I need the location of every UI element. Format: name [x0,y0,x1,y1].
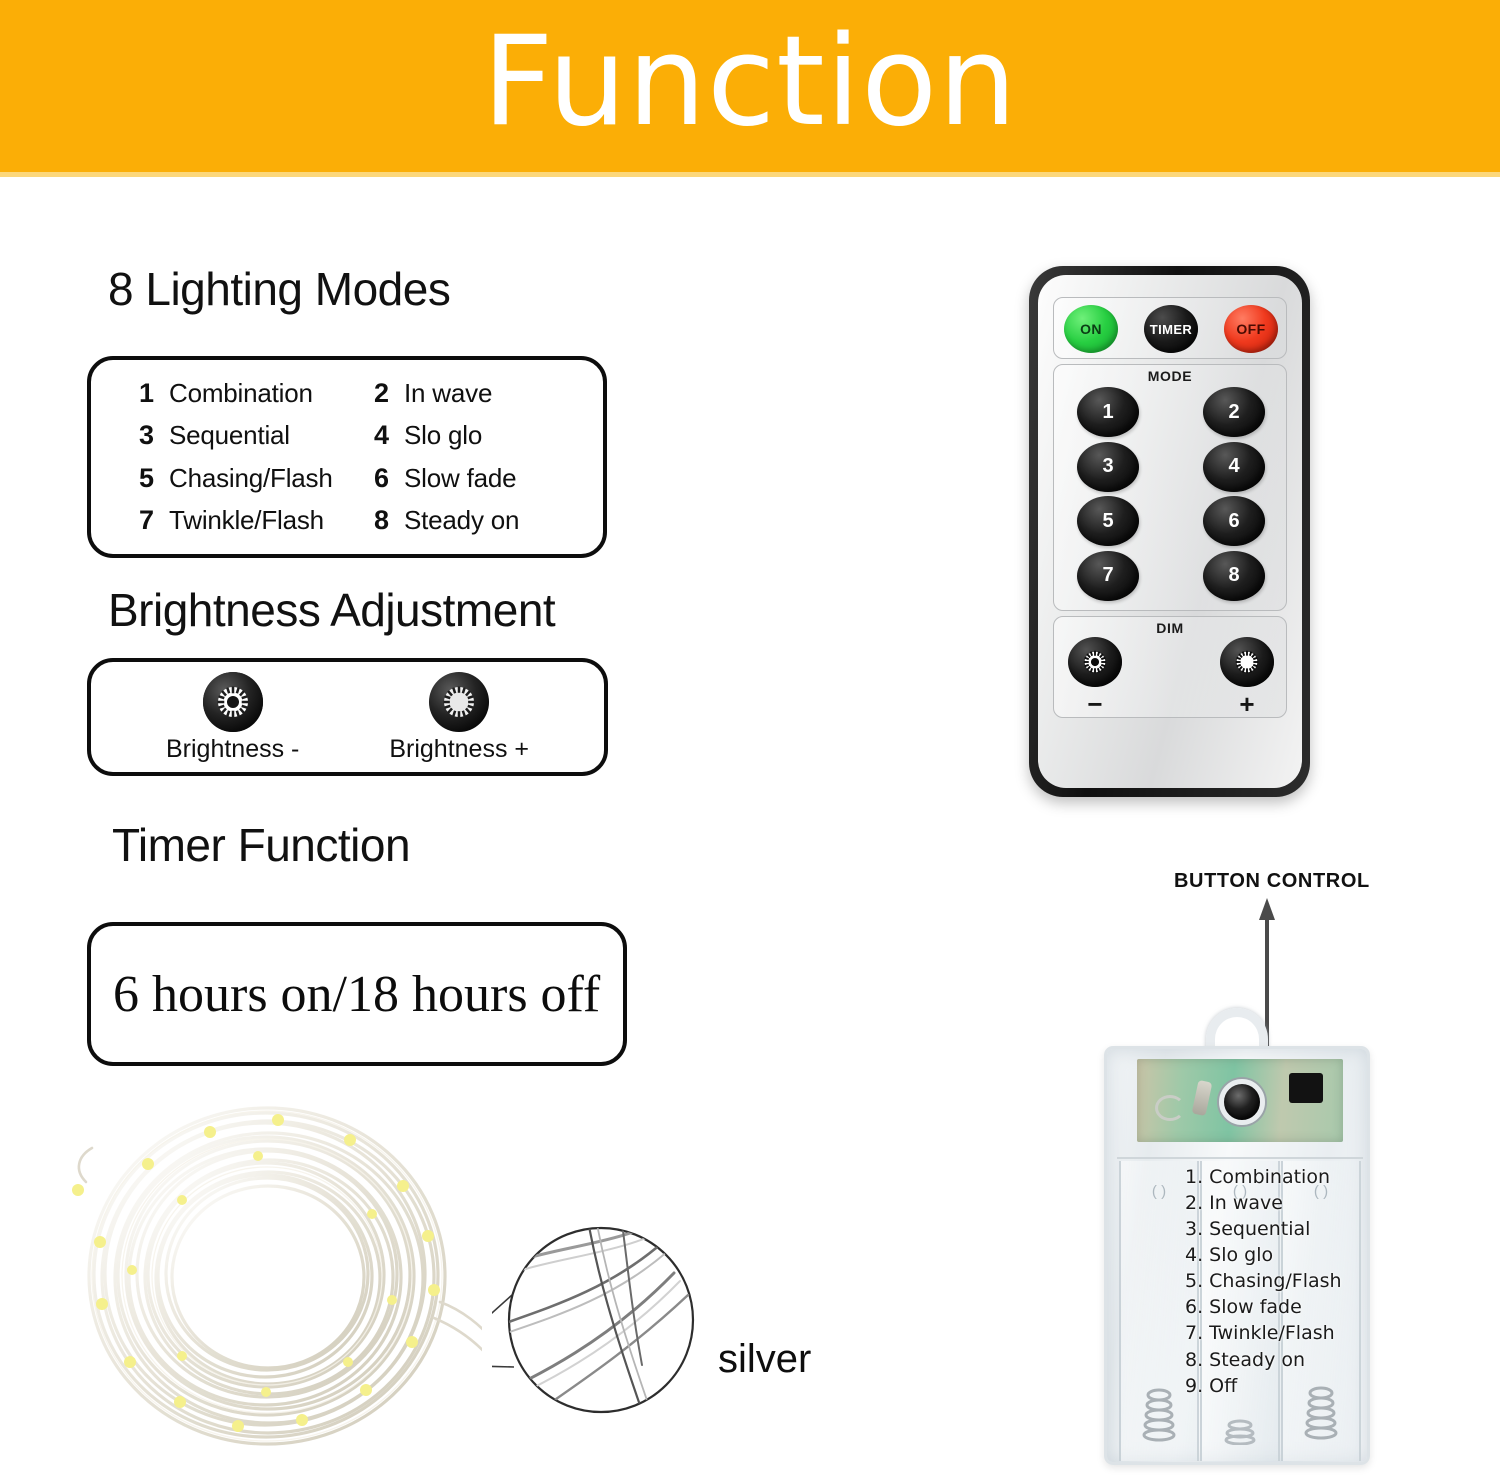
brightness-box: Brightness - [87,658,608,776]
remote-on-button[interactable]: ON [1064,305,1118,353]
remote-dim-group: DIM [1053,616,1287,718]
bb-mode-item: 1. Combination [1185,1165,1370,1190]
coil-component-icon [1155,1095,1185,1121]
mode-number: 8 [374,505,404,536]
control-button[interactable] [1219,1079,1265,1125]
mode-number: 1 [139,378,169,409]
mode-number: 7 [139,505,169,536]
timer-heading: Timer Function [112,818,410,872]
remote-mode-button-5[interactable]: 5 [1077,496,1139,546]
remote-mode-button-4[interactable]: 4 [1203,442,1265,492]
brightness-minus-cell: Brightness - [166,671,299,764]
battery-spring-icon [1142,1385,1176,1445]
mode-item: 4 Slo glo [374,420,603,451]
mode-item: 3 Sequential [139,420,374,451]
mode-label: Steady on [404,505,519,536]
remote-control: ON TIMER OFF MODE 1 2 3 4 5 6 7 8 [1029,266,1310,797]
bb-mode-item: 9. Off [1185,1374,1370,1399]
bb-mode-item: 7. Twinkle/Flash [1185,1321,1370,1346]
page-title: Function [482,20,1017,144]
mode-item: 1 Combination [139,378,374,409]
remote-dim-row: − [1064,637,1278,713]
board-divider [1117,1157,1363,1159]
mode-number: 4 [374,420,404,451]
bb-mode-item: 8. Steady on [1185,1348,1370,1373]
bb-mode-item: 5. Chasing/Flash [1185,1269,1370,1294]
battery-box-shell: ( ) ( ) [1104,1046,1370,1465]
lighting-modes-heading: 8 Lighting Modes [108,262,450,316]
mode-item: 5 Chasing/Flash [139,463,374,494]
remote-power-row: ON TIMER OFF [1060,304,1282,354]
bb-mode-item: 3. Sequential [1185,1217,1370,1242]
mode-label: Combination [169,378,313,409]
brightness-plus-cell: Brightness + [389,671,529,764]
brightness-minus-label: Brightness - [166,735,299,764]
remote-dim-minus-sign: − [1087,691,1102,717]
mode-item: 7 Twinkle/Flash [139,505,374,536]
mode-label: Sequential [169,420,290,451]
remote-dim-up-button[interactable] [1220,637,1274,687]
circuit-board [1137,1059,1343,1142]
battery-control-box: ( ) ( ) [1104,1010,1370,1465]
remote-face: ON TIMER OFF MODE 1 2 3 4 5 6 7 8 [1038,275,1302,788]
bb-mode-item: 6. Slow fade [1185,1295,1370,1320]
mode-number: 2 [374,378,404,409]
remote-dim-up-cell: + [1220,637,1274,717]
remote-mode-button-8[interactable]: 8 [1203,551,1265,601]
remote-timer-button[interactable]: TIMER [1144,305,1198,353]
remote-dim-down-cell: − [1068,637,1122,717]
bb-mode-item: 2. In wave [1185,1191,1370,1216]
mode-number: 6 [374,463,404,494]
brightness-row: Brightness - [91,662,604,772]
battery-box-mode-list: 1. Combination 2. In wave 3. Sequential … [1185,1165,1370,1399]
remote-mode-label: MODE [1054,368,1286,384]
bb-mode-item: 4. Slo glo [1185,1243,1370,1268]
remote-mode-button-2[interactable]: 2 [1203,387,1265,437]
mode-number: 5 [139,463,169,494]
remote-dim-label: DIM [1054,620,1286,636]
remote-mode-button-7[interactable]: 7 [1077,551,1139,601]
remote-mode-button-6[interactable]: 6 [1203,496,1265,546]
capacitor-component-icon [1192,1080,1213,1116]
infographic-page: Function 8 Lighting Modes 1 Combination … [0,0,1500,1480]
header-underline [0,172,1500,177]
brightness-plus-label: Brightness + [389,735,529,764]
lighting-modes-grid: 1 Combination 2 In wave 3 Sequential 4 S… [91,360,603,554]
button-control-callout-label: BUTTON CONTROL [1174,870,1370,893]
mode-label: Slow fade [404,463,516,494]
mode-label: Chasing/Flash [169,463,333,494]
remote-off-button[interactable]: OFF [1224,305,1278,353]
slot-polarity-mark: ( ) [1152,1183,1166,1200]
lighting-modes-box: 1 Combination 2 In wave 3 Sequential 4 S… [87,356,607,558]
black-component-icon [1289,1073,1323,1103]
mode-item: 8 Steady on [374,505,603,536]
mode-number: 3 [139,420,169,451]
dim-down-sun-icon [1075,642,1115,682]
wire-magnifier-callout [492,1215,710,1433]
mode-item: 6 Slow fade [374,463,603,494]
remote-power-group: ON TIMER OFF [1053,297,1287,359]
brightness-up-sun-icon [428,671,490,733]
timer-value: 6 hours on/18 hours off [91,926,623,1062]
dim-up-sun-icon [1227,642,1267,682]
timer-box: 6 hours on/18 hours off [87,922,627,1066]
led-wire-coil-image [62,1090,482,1460]
remote-mode-button-1[interactable]: 1 [1077,387,1139,437]
silver-label: silver [718,1337,811,1382]
mode-item: 2 In wave [374,378,603,409]
brightness-down-sun-icon [202,671,264,733]
mode-label: Twinkle/Flash [169,505,324,536]
remote-mode-button-3[interactable]: 3 [1077,442,1139,492]
brightness-heading: Brightness Adjustment [108,583,555,637]
mode-label: In wave [404,378,492,409]
remote-dim-down-button[interactable] [1068,637,1122,687]
remote-dim-plus-sign: + [1239,691,1254,717]
mode-label: Slo glo [404,420,482,451]
remote-mode-grid: 1 2 3 4 5 6 7 8 [1064,387,1278,601]
remote-mode-group: MODE 1 2 3 4 5 6 7 8 [1053,364,1287,611]
header-banner: Function [0,0,1500,172]
